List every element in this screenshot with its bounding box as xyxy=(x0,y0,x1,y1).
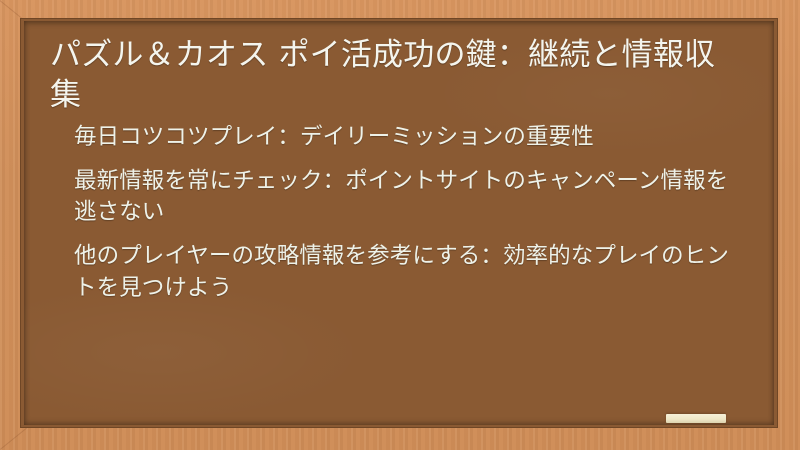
chalkboard-surface: パズル＆カオス ポイ活成功の鍵：継続と情報収集 毎日コツコツプレイ：デイリーミッ… xyxy=(24,21,774,425)
list-item: 他のプレイヤーの攻略情報を参考にする：効率的なプレイのヒントを見つけよう xyxy=(74,241,746,305)
list-item: 毎日コツコツプレイ：デイリーミッションの重要性 xyxy=(74,122,746,154)
page-title: パズル＆カオス ポイ活成功の鍵：継続と情報収集 xyxy=(50,35,740,116)
chalkboard-content: パズル＆カオス ポイ活成功の鍵：継続と情報収集 毎日コツコツプレイ：デイリーミッ… xyxy=(24,21,774,425)
key-points-list: 毎日コツコツプレイ：デイリーミッションの重要性 最新情報を常にチェック：ポイント… xyxy=(50,122,752,306)
chalkboard-slide: パズル＆カオス ポイ活成功の鍵：継続と情報収集 毎日コツコツプレイ：デイリーミッ… xyxy=(0,0,800,450)
list-item: 最新情報を常にチェック：ポイントサイトのキャンペーン情報を逃さない xyxy=(74,166,746,230)
chalk-stick-icon xyxy=(666,414,726,423)
frame-miter-bottom-left xyxy=(0,428,27,450)
